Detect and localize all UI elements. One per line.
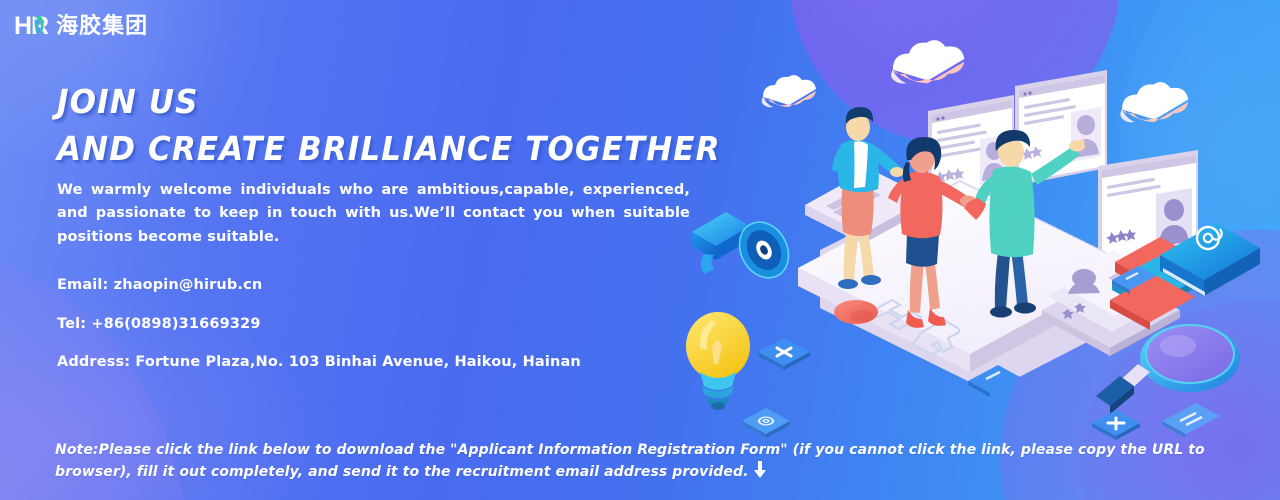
recruitment-illustration [660,20,1280,480]
tile-close [758,338,810,370]
contact-email[interactable]: Email: zhaopin@hirub.cn [57,278,581,293]
contact-address: Address: Fortune Plaza,No. 103 Binhai Av… [57,355,581,370]
logo-mark: HR [14,14,48,39]
brand-logo[interactable]: HR 海胶集团 [14,14,148,39]
download-arrow-icon[interactable] [752,461,768,479]
download-note: Note:Please click the link below to down… [55,440,1250,484]
megaphone-icon [692,212,798,286]
contact-tel: Tel: +86(0898)31669329 [57,317,581,332]
cloud-icon [762,75,816,107]
logo-swoosh-icon [33,15,46,37]
contact-block: Email: zhaopin@hirub.cn Tel: +86(0898)31… [57,278,581,370]
headline-line-1: JOIN US [57,78,721,125]
tile-card-b [1162,403,1220,438]
logo-chinese-name: 海胶集团 [56,16,148,38]
cloud-icon [891,40,964,83]
page-title: JOIN US AND CREATE BRILLIANCE TOGETHER [57,78,721,172]
tile-at [742,408,790,438]
recruitment-banner: HR 海胶集团 JOIN US AND CREATE BRILLIANCE TO… [0,0,1280,500]
cloud-icon [1120,82,1188,122]
intro-paragraph: We warmly welcome individuals who are am… [57,179,690,249]
tile-plus [1092,410,1140,440]
lightbulb-icon [686,312,750,410]
download-note-text: Note:Please click the link below to down… [55,442,1205,480]
headline-line-2: AND CREATE BRILLIANCE TOGETHER [57,125,721,172]
